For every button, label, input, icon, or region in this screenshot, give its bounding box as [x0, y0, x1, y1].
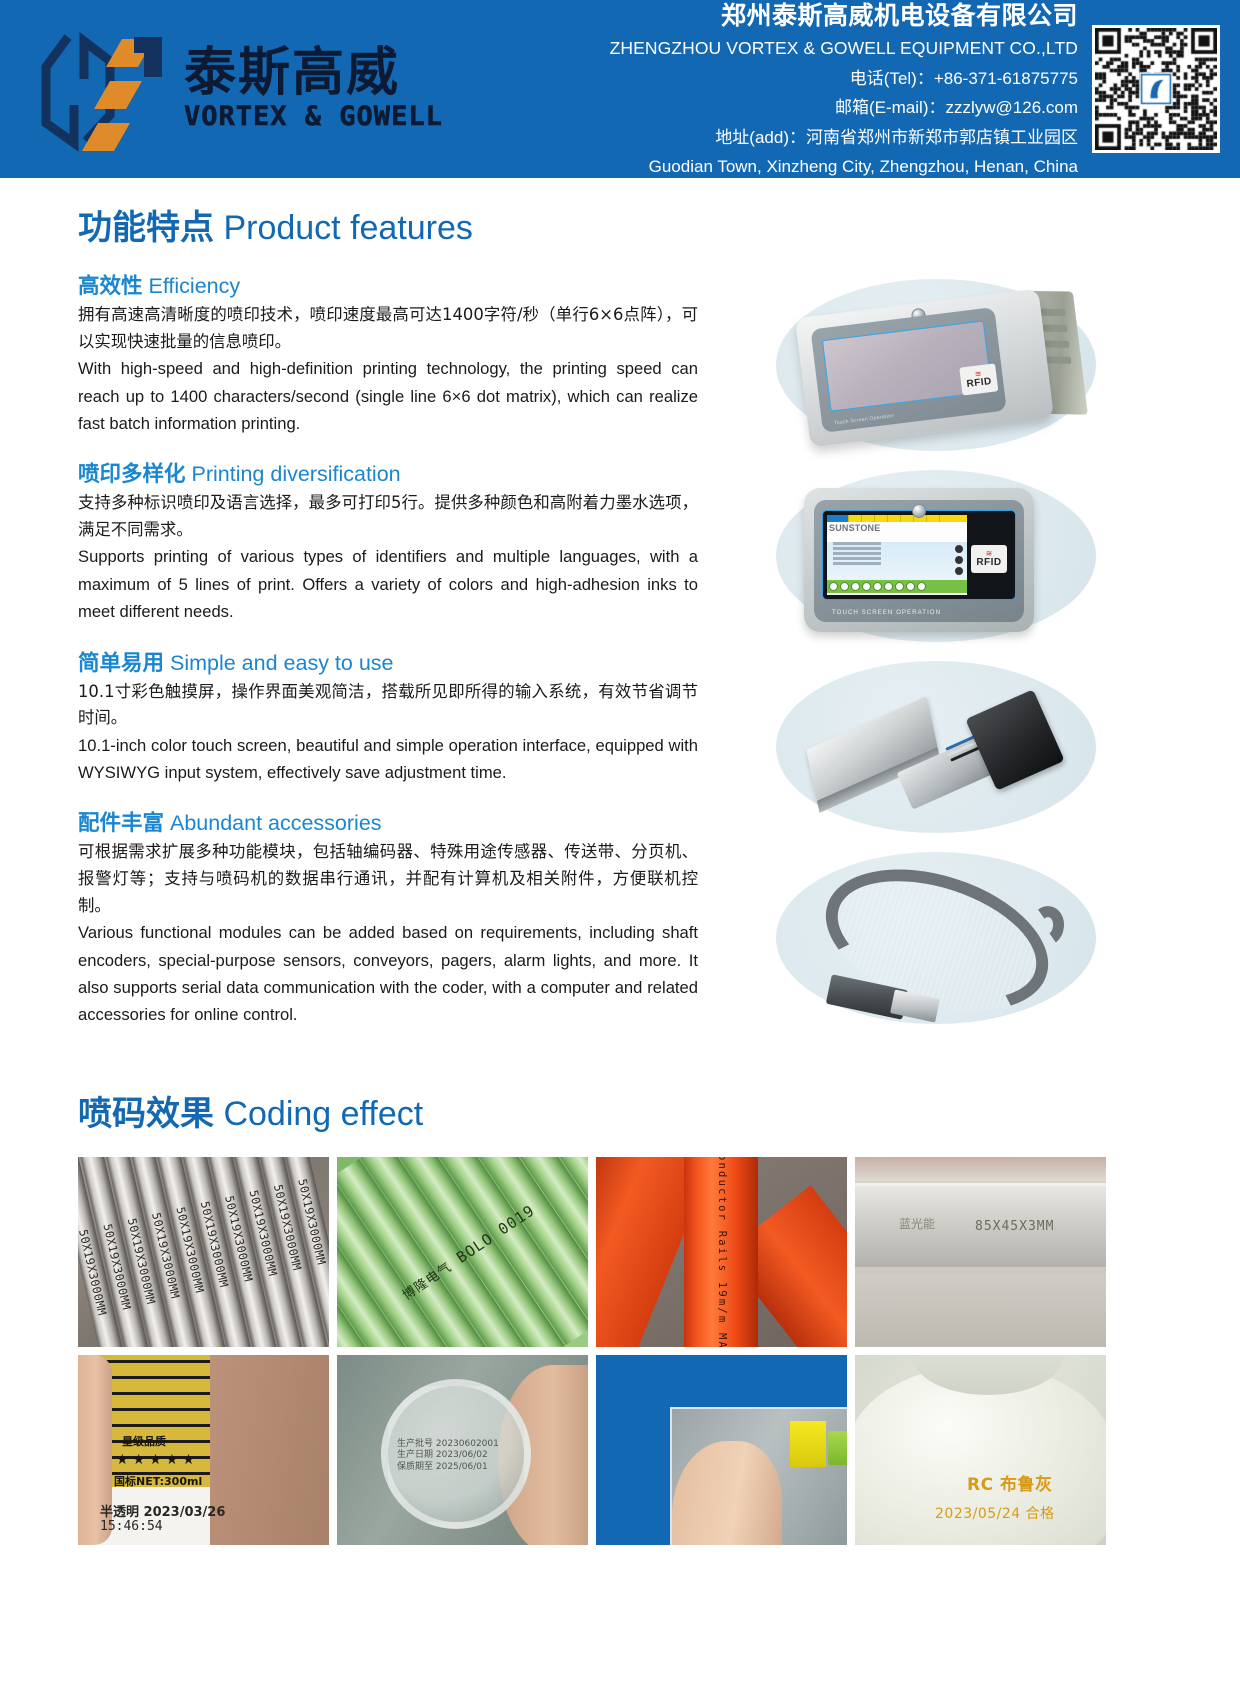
printed-quality-label: 星级品质	[122, 1433, 166, 1449]
photo-flexible-conduit-cable	[740, 846, 1140, 1032]
company-contact-info: 郑州泰斯高威机电设备有限公司 ZHENGZHOU VORTEX & GOWELL…	[610, 0, 1092, 178]
section-title-en: Coding effect	[214, 1095, 423, 1133]
printed-code: 85X45X3MM	[975, 1219, 1054, 1234]
photo-touchscreen-panel-front: SUNSTONE	[740, 464, 1140, 650]
ui-param-row	[833, 547, 881, 550]
feature-body-en: Supports printing of various types of id…	[78, 543, 698, 625]
product-features-section: 功能特点 Product features 高效性 Efficiency 拥有高…	[78, 200, 1168, 1037]
screen-caption: TOUCH SCREEN OPERATION	[832, 609, 941, 616]
ui-brand-label: SUNSTONE	[827, 522, 967, 534]
ui-param-row	[833, 542, 881, 545]
feature-body-en: With high-speed and high-definition prin…	[78, 355, 698, 437]
sample-orange-rails: Conductor Rails 19m/m MAX	[596, 1157, 847, 1347]
sample-hand-sample	[596, 1355, 847, 1545]
printed-code-line2: 15:46:54	[100, 1519, 163, 1534]
printed-code-line1: 生产批号 20230602001	[397, 1439, 499, 1450]
company-logo: 泰斯高威 VORTEX & GOWELL	[26, 14, 443, 164]
green-block	[828, 1431, 847, 1465]
rfid-label: RFID	[966, 377, 992, 390]
lock-knob-icon	[912, 504, 926, 518]
feature-body-cn: 10.1寸彩色触摸屏，操作界面美观简洁，搭载所见即所得的输入系统，有效节省调节时…	[78, 679, 698, 732]
conduit-cable-device	[792, 862, 1092, 1022]
steel-tube-group: 50X19X3000MM 50X19X3000MM 50X19X3000MM 5…	[78, 1157, 329, 1347]
printed-code-line2: 2023/05/24 合格	[935, 1503, 1055, 1523]
ui-param-row	[833, 552, 881, 555]
sample-sealant-tube: 星级品质 ★★★★★ 国标NET:300ml 半透明 2023/03/26 15…	[78, 1355, 329, 1545]
section-title-cn: 功能特点	[78, 208, 214, 248]
features-text-column: 高效性 Efficiency 拥有高速高清晰度的喷印技术，喷印速度最高可达140…	[78, 249, 698, 1037]
printed-code-line2: 生产日期 2023/06/02	[397, 1450, 499, 1461]
feature-heading: 简单易用 Simple and easy to use	[78, 646, 698, 677]
software-ui-screenshot: SUNSTONE	[827, 515, 967, 595]
vent-slot	[1041, 309, 1066, 316]
feature-block-printing-diversification: 喷印多样化 Printing diversification 支持多种标识喷印及…	[78, 457, 698, 625]
touchscreen-controller-front-device: SUNSTONE	[804, 488, 1034, 632]
printed-code-group: 生产批号 20230602001 生产日期 2023/06/02 保质期至 20…	[397, 1439, 499, 1473]
section-title-product-features: 功能特点 Product features	[78, 200, 1168, 249]
sample-white-bottle: RC 布鲁灰 2023/05/24 合格	[855, 1355, 1106, 1545]
feature-heading: 配件丰富 Abundant accessories	[78, 806, 698, 837]
feature-block-abundant-accessories: 配件丰富 Abundant accessories 可根据需求扩展多种功能模块，…	[78, 806, 698, 1028]
product-photos-column: Touch Screen Operation ≋ RFID	[740, 249, 1150, 1037]
rfid-badge: ≋ RFID	[971, 545, 1007, 573]
photo-print-head-module	[740, 655, 1140, 841]
feature-body-en: Various functional modules can be added …	[78, 919, 698, 1029]
feature-body-cn: 可根据需求扩展多种功能模块，包括轴编码器、特殊用途传感器、传送带、分页机、报警灯…	[78, 839, 698, 919]
feature-heading-en: Simple and easy to use	[164, 651, 393, 675]
feature-heading-en: Efficiency	[143, 274, 241, 298]
vent-slot	[1045, 340, 1070, 347]
vortex-gowell-logo-icon	[26, 19, 176, 159]
feature-heading-cn: 配件丰富	[78, 811, 164, 836]
vent-slot	[1043, 325, 1068, 332]
brochure-page: 泰斯高威 VORTEX & GOWELL 郑州泰斯高威机电设备有限公司 ZHEN…	[0, 0, 1240, 1683]
qr-code	[1092, 25, 1220, 153]
device-inner-frame: SUNSTONE	[814, 500, 1024, 622]
ui-toolbar	[827, 580, 967, 593]
company-name-cn: 郑州泰斯高威机电设备有限公司	[610, 0, 1078, 34]
profile-bottom-strip	[855, 1275, 1106, 1347]
ui-action-buttons	[955, 545, 963, 578]
contact-address-en: Guodian Town, Xinzheng City, Zhengzhou, …	[610, 152, 1078, 178]
printed-code: Conductor Rails 19m/m MAX	[716, 1157, 728, 1347]
yellow-block	[790, 1421, 826, 1467]
printed-code-line3: 保质期至 2025/06/01	[397, 1462, 499, 1473]
rfid-label: RFID	[976, 558, 1001, 568]
ui-param-row	[833, 562, 881, 565]
feature-heading-en: Printing diversification	[186, 462, 401, 486]
section-title-cn: 喷码效果	[78, 1094, 214, 1134]
feature-body-en: 10.1-inch color touch screen, beautiful …	[78, 732, 698, 787]
logo-wordmark: 泰斯高威 VORTEX & GOWELL	[184, 46, 443, 132]
contact-tel: 电话(Tel)：+86-371-61875775	[610, 64, 1078, 93]
feature-body-cn: 拥有高速高清晰度的喷印技术，喷印速度最高可达1400字符/秒（单行6×6点阵），…	[78, 302, 698, 355]
feature-heading-cn: 喷印多样化	[78, 462, 186, 487]
printed-code: RC 布鲁灰	[967, 1470, 1053, 1495]
printed-logo: 蓝光能	[899, 1215, 935, 1232]
page-header: 泰斯高威 VORTEX & GOWELL 郑州泰斯高威机电设备有限公司 ZHEN…	[0, 0, 1240, 178]
inset-photo	[670, 1407, 847, 1545]
screen-black-panel: SUNSTONE	[822, 510, 1016, 600]
feature-body-cn: 支持多种标识喷印及语言选择，最多可打印5行。提供多种颜色和高附着力墨水选项，满足…	[78, 490, 698, 543]
hand-holding	[672, 1441, 782, 1545]
section-title-coding-effect: 喷码效果 Coding effect	[78, 1086, 1168, 1135]
feature-heading: 高效性 Efficiency	[78, 269, 698, 300]
feature-heading-cn: 简单易用	[78, 651, 164, 676]
sample-glass-jar: 生产批号 20230602001 生产日期 2023/06/02 保质期至 20…	[337, 1355, 588, 1545]
sample-steel-tubes: 50X19X3000MM 50X19X3000MM 50X19X3000MM 5…	[78, 1157, 329, 1347]
printed-star-rating: ★★★★★	[116, 1451, 199, 1468]
contact-address-cn: 地址(add)：河南省郑州市新郑市郭店镇工业园区	[610, 123, 1078, 152]
profile-top-strip	[855, 1157, 1106, 1181]
company-name-en: ZHENGZHOU VORTEX & GOWELL EQUIPMENT CO.,…	[610, 34, 1078, 64]
rfid-badge: ≋ RFID	[959, 363, 998, 395]
feature-block-simple-easy-to-use: 简单易用 Simple and easy to use 10.1寸彩色触摸屏，操…	[78, 646, 698, 787]
sample-gray-profile: 蓝光能 85X45X3MM	[855, 1157, 1106, 1347]
feature-heading: 喷印多样化 Printing diversification	[78, 457, 698, 488]
coding-effect-section: 喷码效果 Coding effect 50X19X3000MM 50X19X30…	[78, 1086, 1168, 1545]
ui-menubar	[827, 515, 967, 522]
photo-touchscreen-panel-angled: Touch Screen Operation ≋ RFID	[740, 273, 1140, 459]
print-head-device	[800, 677, 1080, 827]
feature-heading-cn: 高效性	[78, 274, 143, 299]
sample-green-pipes: 博隆电气 BOLO 0019	[337, 1157, 588, 1347]
feature-block-efficiency: 高效性 Efficiency 拥有高速高清晰度的喷印技术，喷印速度最高可达140…	[78, 269, 698, 437]
section-title-en: Product features	[214, 209, 473, 247]
printed-code-line1: 半透明 2023/03/26	[100, 1501, 225, 1520]
contact-email: 邮箱(E-mail)：zzzlyw@126.com	[610, 93, 1078, 122]
logo-english-name: VORTEX & GOWELL	[184, 102, 443, 132]
ui-brand-row: SUNSTONE	[827, 522, 967, 540]
ui-param-row	[833, 557, 881, 560]
ui-parameter-panel	[827, 542, 967, 580]
logo-chinese-name: 泰斯高威	[184, 46, 443, 101]
vent-slot	[1046, 356, 1071, 363]
printed-net-volume: 国标NET:300ml	[114, 1473, 202, 1489]
screen-caption: Touch Screen Operation	[834, 413, 895, 426]
coding-effect-gallery: 50X19X3000MM 50X19X3000MM 50X19X3000MM 5…	[78, 1157, 1168, 1545]
feature-heading-en: Abundant accessories	[164, 811, 382, 835]
